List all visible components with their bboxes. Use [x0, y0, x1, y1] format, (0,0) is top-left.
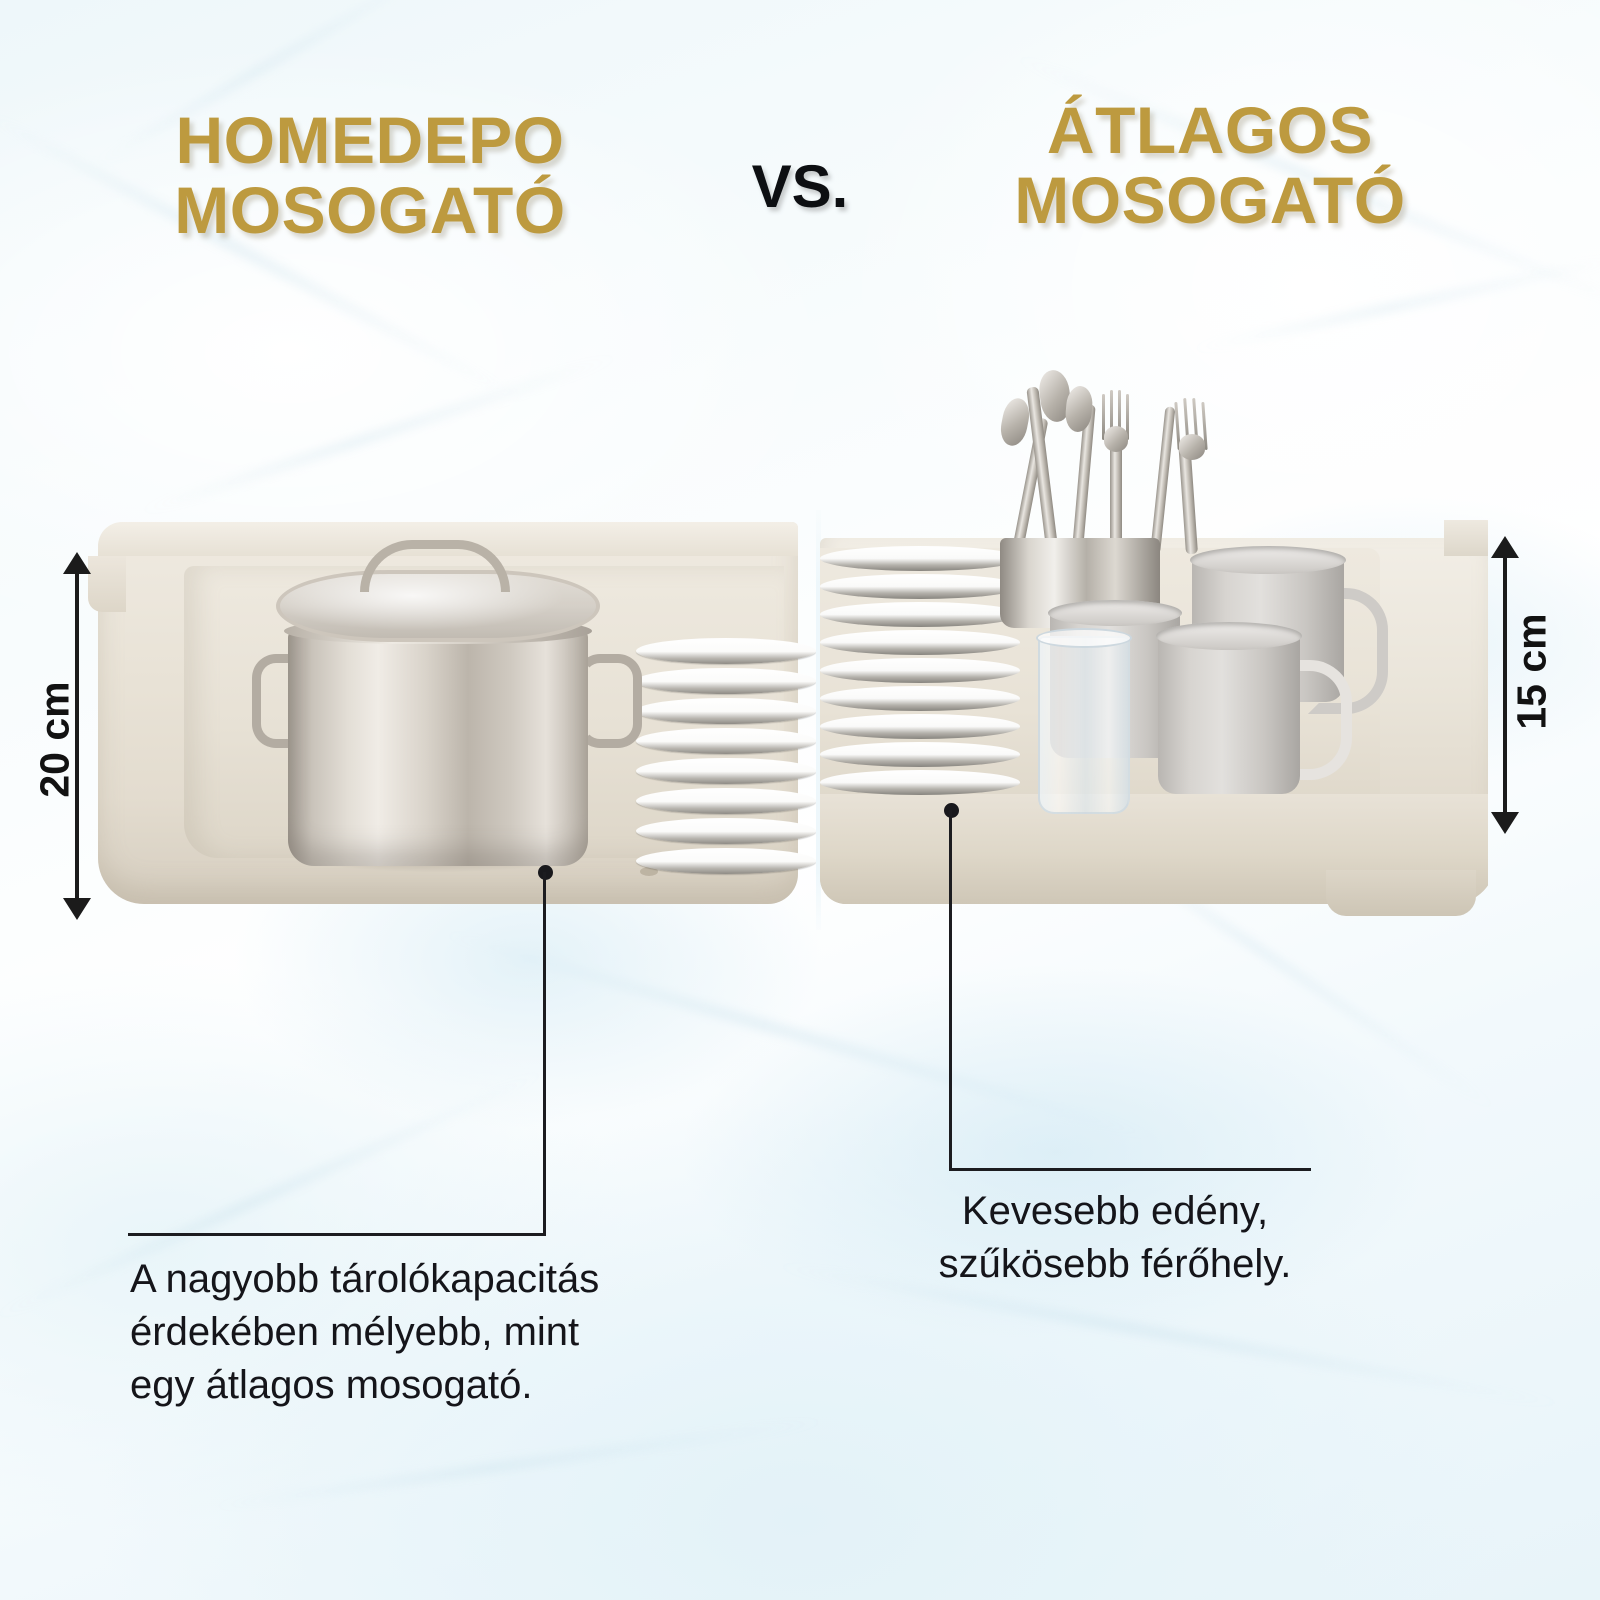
dimension-right-label: 15 cm [1509, 612, 1556, 732]
mug-middle-rim [1048, 600, 1182, 626]
sink-basin-left-tab [88, 556, 126, 612]
dimension-left-label: 20 cm [32, 680, 79, 800]
photo-homedepo-sink [88, 370, 818, 930]
title-homedepo-sink: HOMEDEPO MOSOGATÓ [60, 106, 680, 246]
photo-average-sink [820, 370, 1488, 930]
sink-basin-right-foot [1326, 870, 1476, 916]
product-comparison-photo [88, 370, 1488, 930]
versus-label: VS. [700, 152, 900, 221]
drinking-glass-rim [1036, 628, 1132, 648]
title-average-sink: ÁTLAGOS MOSOGATÓ [900, 96, 1520, 236]
drinking-glass [1038, 636, 1130, 814]
comparison-graphic: HOMEDEPO MOSOGATÓ VS. ÁTLAGOS MOSOGATÓ [0, 0, 1600, 1600]
mug-front-rim [1156, 622, 1302, 650]
plate-stack-left [636, 638, 816, 874]
stock-pot-body [288, 628, 588, 866]
mug-back-rim [1190, 546, 1346, 574]
callout-right-text: Kevesebb edény, szűkösebb férőhely. [905, 1185, 1325, 1291]
callout-left-text: A nagyobb tárolókapacitás érdekében mély… [130, 1253, 690, 1413]
plate-stack-right [820, 546, 1020, 806]
mug-front [1158, 632, 1300, 794]
sink-basin-right-tab [1444, 520, 1488, 556]
